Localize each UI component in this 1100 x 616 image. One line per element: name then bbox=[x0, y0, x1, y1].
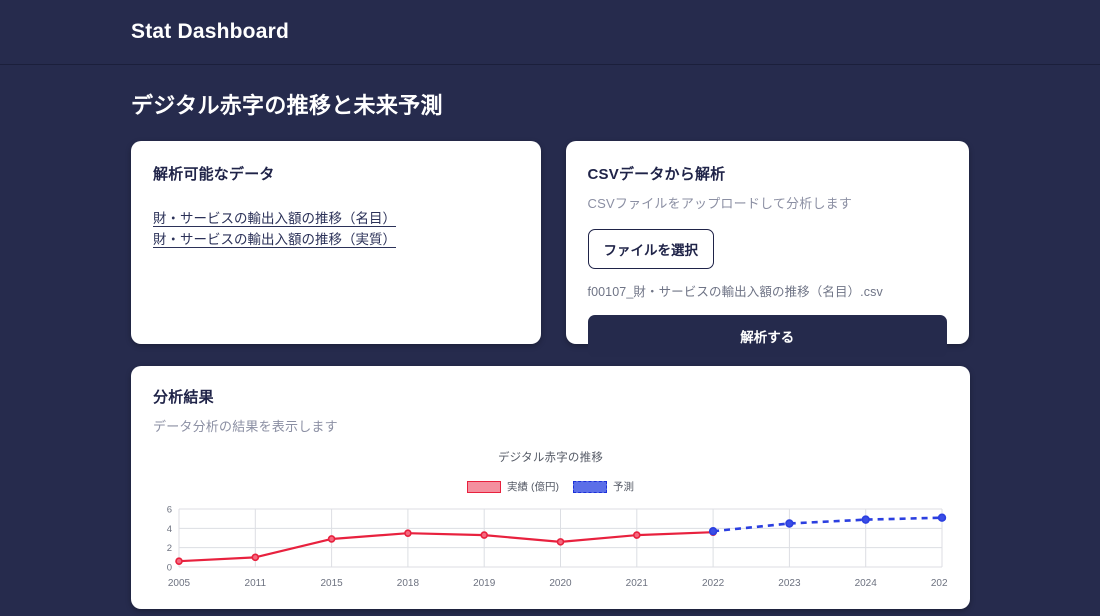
y-axis-tick-label: 2 bbox=[167, 543, 172, 554]
x-axis-tick-label: 2022 bbox=[702, 578, 725, 589]
chart-data-point bbox=[481, 532, 487, 538]
chart-data-point bbox=[405, 530, 411, 536]
chart-series-line bbox=[179, 532, 713, 561]
selected-file-name: f00107_財・サービスの輸出入額の推移（名目）.csv bbox=[588, 281, 948, 300]
chart-data-point bbox=[329, 536, 335, 542]
legend-item-forecast: 予測 bbox=[573, 479, 634, 494]
x-axis-tick-label: 2023 bbox=[778, 578, 801, 589]
app-brand-title: Stat Dashboard bbox=[131, 20, 289, 44]
chart-data-point bbox=[634, 532, 640, 538]
x-axis-tick-label: 2005 bbox=[168, 578, 191, 589]
analyze-button[interactable]: 解析する bbox=[588, 315, 948, 357]
chart-data-point bbox=[939, 514, 946, 521]
available-data-link-list: 財・サービスの輸出入額の推移（名目） 財・サービスの輸出入額の推移（実質） bbox=[153, 208, 519, 250]
legend-swatch-actual bbox=[467, 481, 501, 493]
csv-upload-title: CSVデータから解析 bbox=[588, 163, 948, 184]
line-chart-svg: 0246200520112015201820192020202120222023… bbox=[153, 503, 948, 595]
x-axis-tick-label: 2015 bbox=[320, 578, 343, 589]
app-root: Stat Dashboard デジタル赤字の推移と未来予測 解析可能なデータ 財… bbox=[0, 0, 1100, 616]
chart-data-point bbox=[786, 520, 793, 527]
chart-plot-area: 0246200520112015201820192020202120222023… bbox=[153, 503, 948, 595]
y-axis-tick-label: 0 bbox=[167, 563, 172, 574]
y-axis-tick-label: 4 bbox=[167, 524, 172, 535]
x-axis-tick-label: 2011 bbox=[245, 578, 267, 589]
chart-series-line bbox=[713, 518, 942, 532]
legend-label-actual: 実績 (億円) bbox=[507, 479, 559, 494]
chart-title: デジタル赤字の推移 bbox=[153, 449, 948, 465]
chart-data-point bbox=[862, 516, 869, 523]
page-title: デジタル赤字の推移と未来予測 bbox=[0, 65, 1100, 120]
top-header-bar: Stat Dashboard bbox=[0, 0, 1100, 65]
data-link-real[interactable]: 財・サービスの輸出入額の推移（実質） bbox=[153, 229, 396, 250]
chart-data-point bbox=[558, 539, 564, 545]
data-link-nominal[interactable]: 財・サービスの輸出入額の推移（名目） bbox=[153, 208, 396, 229]
available-data-title: 解析可能なデータ bbox=[153, 163, 519, 184]
x-axis-tick-label: 2021 bbox=[626, 578, 649, 589]
x-axis-tick-label: 2020 bbox=[549, 578, 572, 589]
y-axis-tick-label: 6 bbox=[167, 505, 172, 516]
chart-legend: 実績 (億円) 予測 bbox=[153, 479, 948, 494]
csv-upload-card: CSVデータから解析 CSVファイルをアップロードして分析します ファイルを選択… bbox=[566, 141, 970, 344]
legend-swatch-forecast bbox=[573, 481, 607, 493]
chart-data-point bbox=[252, 554, 258, 560]
x-axis-tick-label: 2019 bbox=[473, 578, 496, 589]
select-file-button[interactable]: ファイルを選択 bbox=[588, 229, 715, 269]
top-card-row: 解析可能なデータ 財・サービスの輸出入額の推移（名目） 財・サービスの輸出入額の… bbox=[131, 141, 969, 344]
analysis-results-card: 分析結果 データ分析の結果を表示します デジタル赤字の推移 実績 (億円) 予測… bbox=[131, 366, 970, 609]
chart-data-point bbox=[176, 558, 182, 564]
legend-label-forecast: 予測 bbox=[613, 479, 634, 494]
analysis-results-subtitle: データ分析の結果を表示します bbox=[153, 416, 948, 435]
x-axis-tick-label: 2018 bbox=[397, 578, 420, 589]
x-axis-tick-label: 2024 bbox=[855, 578, 878, 589]
x-axis-tick-label: 2025 bbox=[931, 578, 948, 589]
csv-upload-subtitle: CSVファイルをアップロードして分析します bbox=[588, 193, 948, 212]
legend-item-actual: 実績 (億円) bbox=[467, 479, 559, 494]
available-data-card: 解析可能なデータ 財・サービスの輸出入額の推移（名目） 財・サービスの輸出入額の… bbox=[131, 141, 541, 344]
main-content: 解析可能なデータ 財・サービスの輸出入額の推移（名目） 財・サービスの輸出入額の… bbox=[0, 141, 1100, 609]
chart-container: デジタル赤字の推移 実績 (億円) 予測 0246200520112015201… bbox=[153, 449, 948, 595]
chart-data-point bbox=[710, 528, 717, 535]
analysis-results-title: 分析結果 bbox=[153, 386, 948, 407]
